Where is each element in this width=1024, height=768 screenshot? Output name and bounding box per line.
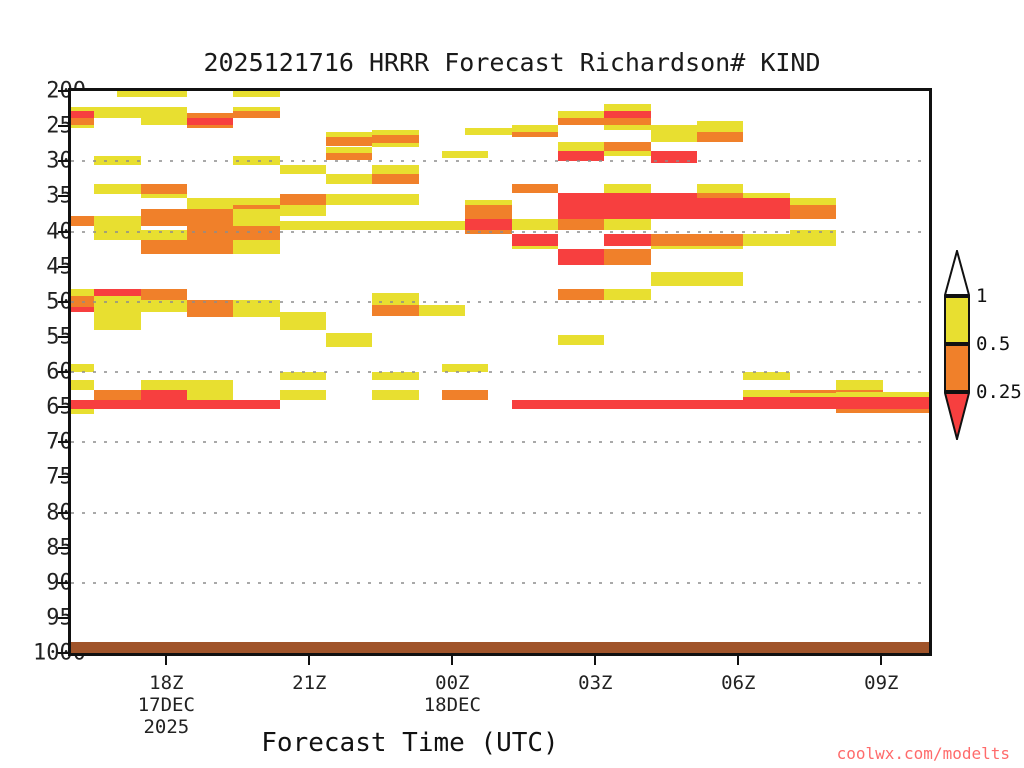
x-axis-tick-label: 06Z	[721, 672, 755, 694]
chart-title: 2025121716 HRRR Forecast Richardson# KIN…	[0, 48, 1024, 77]
heatmap-cell	[187, 118, 233, 126]
credit-watermark: coolwx.com/modelts	[837, 744, 1010, 763]
heatmap-cell	[697, 132, 743, 142]
heatmap-cell	[558, 193, 697, 219]
heatmap-cell	[94, 312, 140, 330]
heatmap-cell	[604, 151, 650, 156]
heatmap-cell	[71, 289, 94, 296]
y-axis-tick-mark	[58, 371, 68, 373]
heatmap-cell	[372, 372, 418, 380]
colorbar-segment	[944, 296, 970, 344]
heatmap-cell	[71, 380, 94, 389]
heatmap-cell	[372, 165, 418, 174]
y-axis-tick-mark	[58, 160, 68, 162]
heatmap-cell	[233, 300, 279, 317]
heatmap-cell	[326, 153, 372, 160]
heatmap-cell	[71, 364, 94, 372]
y-axis-tick-mark	[58, 476, 68, 478]
heatmap-cell	[141, 194, 187, 198]
y-axis-tick-mark	[58, 547, 68, 549]
heatmap-cell	[604, 234, 650, 246]
heatmap-cell	[280, 390, 326, 401]
heatmap-cell	[326, 333, 372, 347]
heatmap-cell	[604, 142, 650, 151]
heatmap-cell	[512, 132, 558, 138]
heatmap-cell	[465, 230, 511, 234]
x-axis-tick-mark	[451, 656, 453, 665]
heatmap-cell	[604, 111, 650, 118]
y-axis-tick-mark	[58, 652, 68, 654]
heatmap-cell	[71, 307, 94, 312]
x-axis-tick-mark	[880, 656, 882, 665]
heatmap-cell	[836, 380, 882, 389]
heatmap-cell	[372, 293, 418, 306]
x-axis-tick-label: 00Z18DEC	[424, 672, 481, 716]
y-axis-tick-mark	[58, 582, 68, 584]
heatmap-cell	[651, 272, 744, 286]
heatmap-cell	[187, 198, 280, 205]
heatmap-cell	[465, 128, 511, 135]
heatmap-cell	[141, 230, 187, 240]
heatmap-cell	[94, 111, 187, 118]
colorbar-tick-label: 0.5	[976, 333, 1010, 355]
heatmap-cell	[94, 289, 140, 296]
heatmap-cell	[512, 184, 558, 193]
heatmap-cell	[326, 194, 419, 205]
heatmap-cell	[71, 125, 94, 127]
heatmap-cell	[280, 165, 326, 174]
heatmap-cell	[604, 125, 650, 130]
y-axis-tick-mark	[58, 266, 68, 268]
heatmap-cell	[790, 198, 836, 205]
heatmap-cell	[141, 184, 187, 194]
heatmap-cells	[71, 91, 929, 653]
heatmap-cell	[465, 205, 511, 219]
y-axis-tick-mark	[58, 125, 68, 127]
heatmap-cell	[697, 198, 790, 219]
heatmap-cell	[558, 249, 604, 265]
heatmap-cell	[233, 209, 279, 226]
heatmap-cell	[604, 118, 650, 126]
y-axis-tick-mark	[58, 617, 68, 619]
heatmap-cell	[419, 305, 465, 316]
colorbar-arrow-max-outline	[944, 250, 970, 296]
plot-area[interactable]	[68, 88, 932, 656]
y-axis-tick-mark	[58, 512, 68, 514]
heatmap-cell	[94, 226, 140, 240]
heatmap-cell	[326, 137, 372, 145]
heatmap-cell	[141, 300, 187, 312]
x-axis-tick-mark	[308, 656, 310, 665]
x-axis-tick-label: 09Z	[864, 672, 898, 694]
y-axis-tick-mark	[58, 195, 68, 197]
x-axis-label: Forecast Time (UTC)	[0, 728, 820, 758]
heatmap-cell	[233, 111, 279, 118]
heatmap-cell	[743, 234, 789, 246]
colorbar-legend: 10.50.25	[944, 296, 970, 440]
heatmap-cell	[141, 240, 234, 254]
y-axis-tick-mark	[58, 90, 68, 92]
heatmap-cell	[558, 118, 604, 126]
heatmap-cell	[233, 156, 279, 165]
heatmap-cell	[280, 312, 326, 330]
heatmap-cell	[651, 234, 744, 246]
terrain-band	[71, 642, 929, 653]
heatmap-cell	[512, 125, 558, 132]
heatmap-cell	[743, 372, 789, 380]
heatmap-cell	[71, 111, 94, 118]
heatmap-cell	[836, 409, 929, 413]
x-axis-tick-label: 21Z	[292, 672, 326, 694]
y-axis-tick-mark	[58, 231, 68, 233]
heatmap-cell	[187, 300, 233, 317]
heatmap-cell	[604, 289, 650, 300]
heatmap-cell	[94, 184, 140, 194]
heatmap-cell	[94, 390, 140, 401]
heatmap-cell	[743, 397, 929, 408]
heatmap-cell	[697, 121, 743, 132]
heatmap-cell	[71, 118, 94, 126]
x-axis-tick-mark	[737, 656, 739, 665]
heatmap-cell	[71, 216, 94, 226]
heatmap-cell	[743, 393, 836, 397]
heatmap-cell	[558, 219, 604, 230]
x-axis-tick-mark	[594, 656, 596, 665]
heatmap-cell	[372, 390, 418, 401]
y-axis-tick-mark	[58, 301, 68, 303]
heatmap-cell	[512, 246, 558, 250]
heatmap-cell	[558, 151, 604, 162]
heatmap-cell	[233, 240, 279, 254]
heatmap-cell	[604, 219, 650, 230]
heatmap-cell	[442, 151, 488, 159]
heatmap-cell	[233, 400, 279, 408]
heatmap-cell	[326, 174, 372, 184]
heatmap-cell	[280, 205, 326, 216]
heatmap-cell	[442, 390, 488, 401]
heatmap-cell	[233, 226, 279, 240]
heatmap-cell	[651, 151, 697, 163]
heatmap-cell	[280, 194, 326, 205]
heatmap-cell	[372, 174, 418, 184]
heatmap-cell	[465, 219, 511, 230]
heatmap-cell	[604, 249, 650, 265]
heatmap-cell	[280, 372, 326, 380]
heatmap-cell	[94, 216, 140, 226]
colorbar-tick-label: 1	[976, 285, 987, 307]
heatmap-cell	[71, 296, 94, 307]
heatmap-cell	[651, 400, 744, 408]
colorbar-tick-label: 0.25	[976, 381, 1022, 403]
heatmap-cell	[836, 392, 929, 398]
y-axis-tick-mark	[58, 336, 68, 338]
heatmap-cell	[512, 234, 558, 246]
y-axis-tick-mark	[58, 406, 68, 408]
heatmap-cell	[187, 125, 233, 127]
heatmap-cell	[372, 305, 418, 316]
heatmap-cell	[94, 156, 140, 165]
colorbar-arrow-min	[944, 392, 970, 440]
heatmap-cell	[187, 226, 233, 240]
heatmap-cell	[187, 390, 233, 401]
heatmap-cell	[94, 296, 140, 312]
heatmap-cell	[233, 91, 279, 97]
heatmap-cell	[558, 289, 604, 300]
heatmap-cell	[604, 184, 650, 193]
heatmap-cell	[442, 364, 488, 372]
heatmap-cell	[71, 400, 233, 408]
heatmap-cell	[558, 335, 604, 345]
x-axis-tick-label: 03Z	[578, 672, 612, 694]
heatmap-cell	[117, 91, 187, 97]
heatmap-cell	[71, 409, 94, 415]
heatmap-cell	[141, 209, 234, 226]
heatmap-cell	[141, 118, 187, 126]
heatmap-cell	[512, 400, 651, 408]
heatmap-cell	[651, 246, 744, 250]
heatmap-cell	[372, 143, 418, 147]
heatmap-cell	[558, 111, 604, 118]
heatmap-cell	[141, 380, 234, 389]
heatmap-cell	[697, 184, 743, 193]
x-axis-tick-mark	[165, 656, 167, 665]
heatmap-cell	[604, 104, 650, 111]
heatmap-cell	[141, 289, 187, 300]
y-axis-tick-mark	[58, 441, 68, 443]
heatmap-cell	[372, 135, 418, 143]
heatmap-cell	[790, 230, 836, 245]
heatmap-cell	[651, 132, 697, 142]
heatmap-cell	[558, 142, 604, 151]
heatmap-cell	[141, 390, 187, 401]
heatmap-cell	[790, 205, 836, 219]
colorbar-segment	[944, 344, 970, 392]
heatmap-cell	[512, 219, 558, 230]
